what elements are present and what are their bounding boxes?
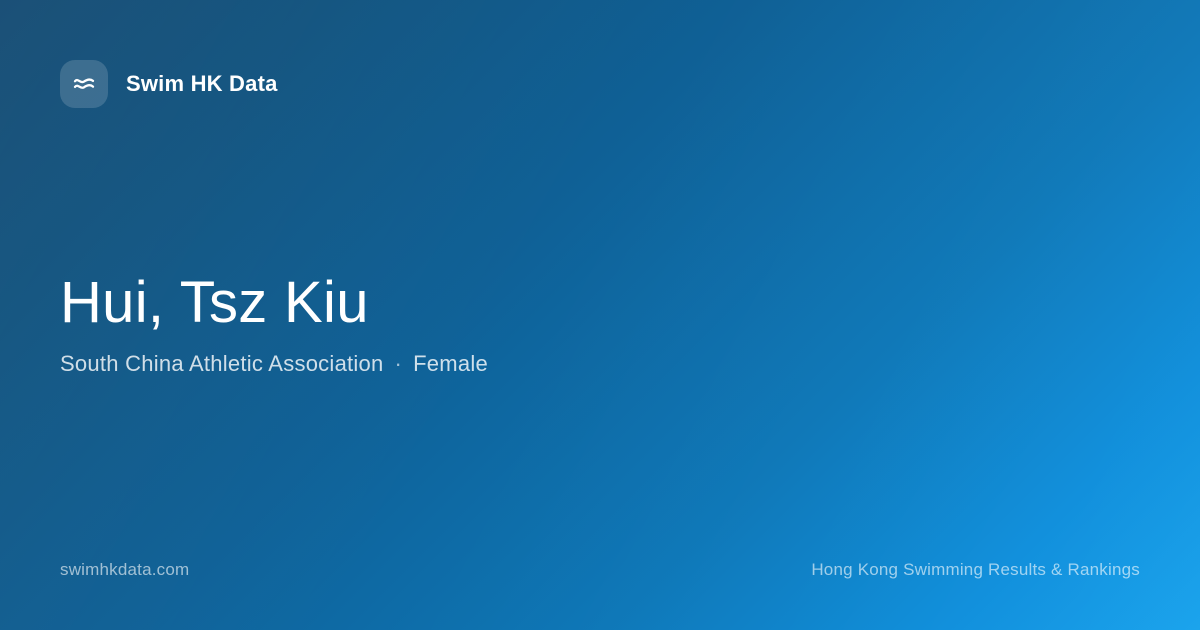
- footer-site-url[interactable]: swimhkdata.com: [60, 560, 189, 580]
- athlete-gender: Female: [413, 351, 488, 377]
- brand-name: Swim HK Data: [126, 71, 278, 97]
- brand-logo-badge: [60, 60, 108, 108]
- athlete-meta: South China Athletic Association · Femal…: [60, 351, 488, 377]
- share-card: Swim HK Data Hui, Tsz Kiu South China At…: [0, 0, 1200, 630]
- brand-lockup[interactable]: Swim HK Data: [60, 60, 278, 108]
- footer: swimhkdata.com Hong Kong Swimming Result…: [60, 560, 1140, 580]
- meta-separator: ·: [395, 351, 403, 377]
- athlete-club: South China Athletic Association: [60, 351, 384, 377]
- athlete-name: Hui, Tsz Kiu: [60, 272, 488, 335]
- footer-tagline: Hong Kong Swimming Results & Rankings: [811, 560, 1140, 580]
- headline-block: Hui, Tsz Kiu South China Athletic Associ…: [60, 272, 488, 377]
- wave-icon: [71, 71, 97, 97]
